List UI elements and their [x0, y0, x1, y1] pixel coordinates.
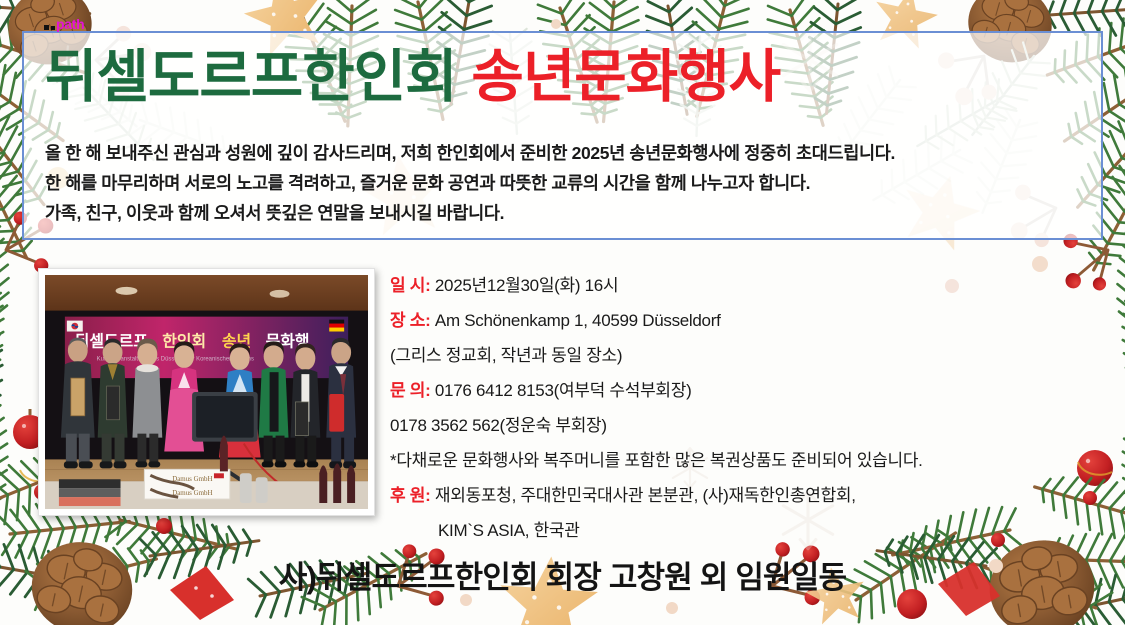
detail-value-date: 2025년12월30일(화) 16시 [435, 276, 618, 295]
detail-label-date: 일 시 [390, 276, 425, 295]
detail-label-venue: 장 소 [390, 311, 425, 330]
detail-value-contact-primary: 0176 6412 8153(여부덕 수석부회장) [435, 381, 692, 400]
detail-sep-date: : [425, 276, 435, 295]
event-photo-frame: 뒤셀도르프 한인회 송년 문화행 Kulturveranstaltung des… [38, 268, 375, 516]
title-organization: 뒤셀도르프한인회 [45, 45, 457, 109]
detail-row-contact-secondary: 0178 3562 562(정운숙 부회장) [390, 408, 1050, 443]
detail-sep-venue: : [425, 311, 435, 330]
event-details-list: 일 시: 2025년12월30일(화) 16시 장 소: Am Schönenk… [390, 268, 1050, 548]
detail-row-prizes-note: *다채로운 문화행사와 복주머니를 포함한 많은 복권상품도 준비되어 있습니다… [390, 443, 1050, 478]
path-node-handle-secondary [51, 26, 55, 30]
detail-label-sponsors: 후 원 [390, 486, 425, 505]
invitation-paragraph: 올 한 해 보내주신 관심과 성원에 깊이 감사드리며, 저희 한인회에서 준비… [45, 138, 1085, 228]
detail-label-contact: 문 의 [390, 381, 425, 400]
detail-row-sponsors-continued: KIM`S ASIA, 한국관 [390, 513, 1050, 548]
detail-value-venue: Am Schönenkamp 1, 40599 Düsseldorf [435, 311, 721, 330]
detail-sep-contact: : [425, 381, 435, 400]
path-node-handle [44, 25, 49, 30]
detail-value-prizes-note: *다채로운 문화행사와 복주머니를 포함한 많은 복권상품도 준비되어 있습니다… [390, 451, 923, 470]
intro-line-2: 한 해를 마무리하며 서로의 노고를 격려하고, 즐거운 문화 공연과 따뜻한 … [45, 168, 1085, 198]
detail-row-sponsors: 후 원: 재외동포청, 주대한민국대사관 본분관, (사)재독한인총연합회, [390, 478, 1050, 513]
detail-value-contact-secondary: 0178 3562 562(정운숙 부회장) [390, 416, 607, 435]
title-event: 송년문화행사 [471, 45, 780, 109]
group-photo-illustration: 뒤셀도르프 한인회 송년 문화행 Kulturveranstaltung des… [45, 275, 368, 509]
poster-title: 뒤셀도르프한인회 송년문화행사 [45, 48, 780, 108]
organizer-signature: 사)뒤셀도르프한인회 회장 고창원 외 임원일동 [0, 552, 1125, 597]
intro-line-3: 가족, 친구, 이웃과 함께 오셔서 뜻깊은 연말을 보내시길 바랍니다. [45, 198, 1085, 228]
detail-row-venue: 장 소: Am Schönenkamp 1, 40599 Düsseldorf [390, 303, 1050, 338]
event-photo: 뒤셀도르프 한인회 송년 문화행 Kulturveranstaltung des… [45, 275, 368, 509]
detail-row-contact: 문 의: 0176 6412 8153(여부덕 수석부회장) [390, 373, 1050, 408]
intro-line-1: 올 한 해 보내주신 관심과 성원에 깊이 감사드리며, 저희 한인회에서 준비… [45, 138, 1085, 168]
detail-row-date: 일 시: 2025년12월30일(화) 16시 [390, 268, 1050, 303]
detail-value-sponsors-line1: 재외동포청, 주대한민국대사관 본분관, (사)재독한인총연합회, [435, 486, 856, 505]
detail-row-venue-note: (그리스 정교회, 작년과 동일 장소) [390, 338, 1050, 373]
detail-value-sponsors-line2: KIM`S ASIA, 한국관 [438, 521, 580, 540]
detail-value-venue-note: (그리스 정교회, 작년과 동일 장소) [390, 346, 622, 365]
path-label-text: path [56, 16, 84, 32]
poster-canvas: path 뒤셀도르프한인회 송년문화행사 올 한 해 보내주신 관심과 성원에 … [0, 0, 1125, 625]
path-watermark-label: path [56, 17, 84, 31]
detail-sep-sponsors: : [425, 486, 435, 505]
